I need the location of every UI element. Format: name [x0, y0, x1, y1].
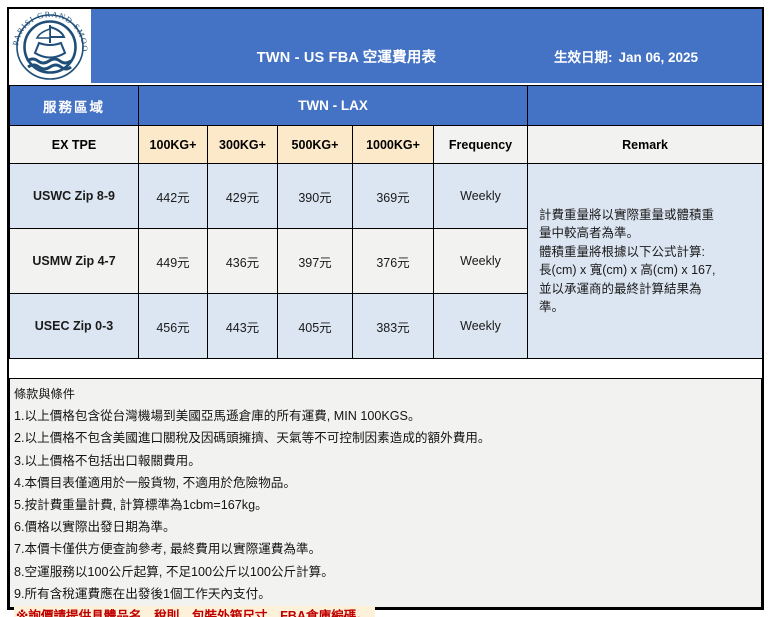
- company-logo: PARISI GRAND SMOOTH: [9, 9, 91, 83]
- terms-item: 6.價格以實際出發日期為準。: [14, 516, 761, 538]
- zone-label: USMW Zip 4-7: [10, 229, 139, 294]
- parisi-grand-smooth-logo-icon: PARISI GRAND SMOOTH: [9, 9, 91, 83]
- terms-item: 4.本價目表僅適用於一般貨物, 不適用於危險物品。: [14, 472, 761, 494]
- page-title: TWN - US FBA 空運費用表: [149, 46, 544, 67]
- remark-line: 並以承運商的最終計算結果為: [539, 280, 753, 299]
- header-lane: TWN - LAX: [139, 86, 528, 126]
- rate-100kg: 442元: [139, 164, 208, 229]
- rate-500kg: 405元: [278, 294, 353, 359]
- header-300kg: 300KG+: [208, 126, 278, 164]
- rate-500kg: 397元: [278, 229, 353, 294]
- remark-line: 計費重量將以實際重量或體積重: [539, 206, 753, 225]
- remark-line: 長(cm) x 寬(cm) x 高(cm) x 167,: [539, 261, 753, 280]
- rate-1000kg: 383元: [353, 294, 434, 359]
- header-1000kg: 1000KG+: [353, 126, 434, 164]
- rate-300kg: 436元: [208, 229, 278, 294]
- table-header-top-row: 服務區域 TWN - LAX: [10, 86, 763, 126]
- terms-and-conditions: 條款與條件 1.以上價格包含從台灣機場到美國亞馬遜倉庫的所有運費, MIN 10…: [9, 378, 762, 608]
- zone-label: USEC Zip 0-3: [10, 294, 139, 359]
- zone-label: USWC Zip 8-9: [10, 164, 139, 229]
- frequency-value: Weekly: [434, 294, 528, 359]
- header-500kg: 500KG+: [278, 126, 353, 164]
- table-header-sub-row: EX TPE 100KG+ 300KG+ 500KG+ 1000KG+ Freq…: [10, 126, 763, 164]
- rate-table: 服務區域 TWN - LAX EX TPE 100KG+ 300KG+ 500K…: [9, 85, 763, 359]
- terms-item: 1.以上價格包含從台灣機場到美國亞馬遜倉庫的所有運費, MIN 100KGS。: [14, 405, 761, 427]
- header-remark: Remark: [528, 126, 763, 164]
- rate-100kg: 449元: [139, 229, 208, 294]
- terms-item: 5.按計費重量計費, 計算標準為1cbm=167kg。: [14, 494, 761, 516]
- terms-item: 7.本價卡僅供方便查詢參考, 最終費用以實際運費為準。: [14, 538, 761, 560]
- effective-date: 生效日期:Jan 06, 2025: [554, 46, 764, 66]
- rate-1000kg: 376元: [353, 229, 434, 294]
- remark-line: 體積重量將根據以下公式計算:: [539, 243, 753, 262]
- header-service-region: 服務區域: [10, 86, 139, 126]
- rate-300kg: 443元: [208, 294, 278, 359]
- rate-500kg: 390元: [278, 164, 353, 229]
- header-frequency: Frequency: [434, 126, 528, 164]
- header-banner: TWN - US FBA 空運費用表 生效日期:Jan 06, 2025: [9, 9, 762, 83]
- frequency-value: Weekly: [434, 229, 528, 294]
- terms-item: 8.空運服務以100公斤起算, 不足100公斤以100公斤計算。: [14, 561, 761, 583]
- remark-cell: 計費重量將以實際重量或體積重 量中較高者為準。 體積重量將根據以下公式計算: 長…: [528, 164, 763, 359]
- rate-300kg: 429元: [208, 164, 278, 229]
- header-blank: [528, 86, 763, 126]
- remark-line: 準。: [539, 298, 753, 317]
- header-100kg: 100KG+: [139, 126, 208, 164]
- rate-100kg: 456元: [139, 294, 208, 359]
- terms-alert-notice: ※詢價請提供具體品名、稅則、包裝外箱尺寸、FBA倉庫編碼。: [14, 606, 375, 617]
- terms-title: 條款與條件: [14, 383, 761, 405]
- rate-1000kg: 369元: [353, 164, 434, 229]
- rate-sheet-page: TWN - US FBA 空運費用表 生效日期:Jan 06, 2025 PAR…: [0, 0, 771, 617]
- terms-item: 3.以上價格不包括出口報關費用。: [14, 450, 761, 472]
- terms-item: 9.所有含稅運費應在出發後1個工作天內支付。: [14, 583, 761, 605]
- header-ex-tpe: EX TPE: [10, 126, 139, 164]
- remark-line: 量中較高者為準。: [539, 224, 753, 243]
- effective-date-value: Jan 06, 2025: [619, 50, 699, 65]
- terms-item: 2.以上價格不包含美國進口關稅及因碼頭擁擠、天氣等不可控制因素造成的額外費用。: [14, 427, 761, 449]
- table-row: USWC Zip 8-9 442元 429元 390元 369元 Weekly …: [10, 164, 763, 229]
- frequency-value: Weekly: [434, 164, 528, 229]
- effective-date-label: 生效日期:: [554, 50, 613, 65]
